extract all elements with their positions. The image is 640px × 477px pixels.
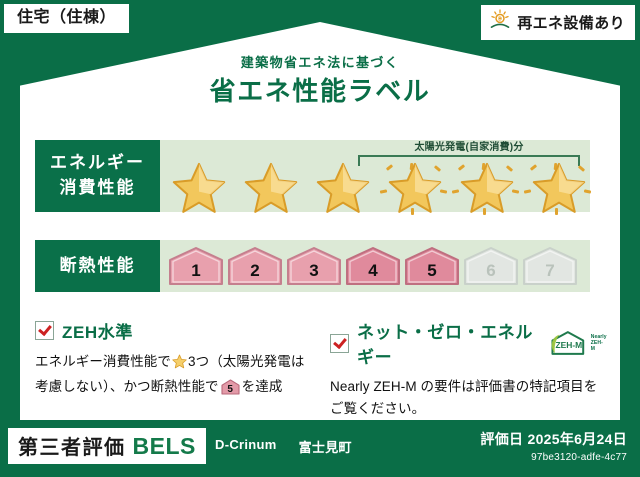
energy-performance-row-label: エネルギー 消費性能 xyxy=(35,140,160,212)
info-section: ZEH水準 エネルギー消費性能で3つ（太陽光発電は考慮しない）、かつ断熱性能で5… xyxy=(35,318,607,420)
zeh-body-star-text: 3つ（太陽光発電 xyxy=(188,354,291,369)
title-block: 建築物省エネ法に基づく 省エネ性能ラベル xyxy=(0,55,640,107)
zeh-m-sub-line2: ZEH-M xyxy=(591,340,607,353)
inline-star-icon xyxy=(172,354,187,376)
star-icon xyxy=(171,161,227,215)
insulation-level-6: 6 xyxy=(463,246,519,286)
insulation-level-5: 5 xyxy=(404,246,460,286)
svg-text:D: D xyxy=(498,17,502,23)
insulation-level-number: 7 xyxy=(522,261,578,281)
bels-certification-chip: 第三者評価 BELS xyxy=(8,428,206,464)
zeh-standard-block: ZEH水準 エネルギー消費性能で3つ（太陽光発電は考慮しない）、かつ断熱性能で5… xyxy=(35,318,312,420)
zeh-body-part3: を達成 xyxy=(242,379,283,394)
nze-checkbox-checked-icon xyxy=(330,334,349,353)
star-icon xyxy=(243,161,299,215)
insulation-level-3: 3 xyxy=(286,246,342,286)
evaluation-meta: 評価日 2025年6月24日 97be3120-adfe-4c77 xyxy=(480,429,627,463)
star-5 xyxy=(452,164,522,212)
star-3 xyxy=(308,164,378,212)
zeh-m-house-icon: ZEH-M xyxy=(548,330,588,356)
net-zero-energy-block: ネット・ゼロ・エネルギー ZEH-M Nearly ZEH-M Nearly Z… xyxy=(330,318,607,420)
inline-house-badge-icon: 5 xyxy=(221,379,240,395)
net-zero-energy-title: ネット・ゼロ・エネルギー xyxy=(357,318,538,368)
insulation-level-number: 3 xyxy=(286,261,342,281)
star-icon xyxy=(387,161,443,215)
net-zero-energy-header: ネット・ゼロ・エネルギー ZEH-M Nearly ZEH-M xyxy=(330,318,607,368)
energy-performance-row: エネルギー 消費性能 太陽光発電(自家消費)分 xyxy=(35,140,590,212)
zeh-checkbox-checked-icon xyxy=(35,321,54,340)
zeh-m-logo-subtext: Nearly ZEH-M xyxy=(591,334,607,353)
energy-performance-label: 住宅（住棟） D 再エネ設備あり 建築物省エネ法に基づく 省エネ性能ラベ xyxy=(0,0,640,477)
insulation-levels-area: 1234567 xyxy=(160,240,590,292)
building-location: 富士見町 xyxy=(299,437,352,456)
renewable-chip-label: 再エネ設備あり xyxy=(517,12,625,33)
star-icon xyxy=(315,161,371,215)
insulation-level-4: 4 xyxy=(345,246,401,286)
building-identification: D-Crinum 富士見町 xyxy=(215,437,352,456)
insulation-level-1: 1 xyxy=(168,246,224,286)
category-chip: 住宅（住棟） xyxy=(4,4,129,33)
zeh-m-sub-line1: Nearly xyxy=(591,334,607,340)
insulation-performance-row: 断熱性能 1234567 xyxy=(35,240,590,292)
insulation-level-number: 4 xyxy=(345,261,401,281)
star-icon xyxy=(531,161,587,215)
energy-label-line2: 消費性能 xyxy=(60,176,136,201)
insulation-level-7: 7 xyxy=(522,246,578,286)
insulation-level-2: 2 xyxy=(227,246,283,286)
insulation-level-number: 1 xyxy=(168,261,224,281)
bels-chip-en-label: BELS xyxy=(133,433,196,460)
solar-sun-icon: D xyxy=(489,9,511,35)
zeh-m-logo: ZEH-M Nearly ZEH-M xyxy=(548,330,607,356)
inline-house-number: 5 xyxy=(221,382,240,398)
title-subtitle: 建築物省エネ法に基づく xyxy=(0,55,640,72)
insulation-level-number: 2 xyxy=(227,261,283,281)
star-2 xyxy=(236,164,306,212)
building-name: D-Crinum xyxy=(215,437,277,456)
net-zero-energy-body: Nearly ZEH-M の要件は評価書の特記項目をご覧ください。 xyxy=(330,376,607,420)
footer-bar: 第三者評価 BELS D-Crinum 富士見町 評価日 2025年6月24日 … xyxy=(0,420,640,477)
star-1 xyxy=(164,164,234,212)
solar-bracket-label: 太陽光発電(自家消費)分 xyxy=(348,138,590,153)
insulation-performance-row-label: 断熱性能 xyxy=(35,240,160,292)
zeh-body-part1: エネルギー消費性能で xyxy=(35,354,171,369)
star-6 xyxy=(524,164,594,212)
svg-text:ZEH-M: ZEH-M xyxy=(556,340,583,350)
bels-chip-jp-label: 第三者評価 xyxy=(18,431,126,460)
insulation-level-number: 6 xyxy=(463,261,519,281)
evaluation-date: 評価日 2025年6月24日 xyxy=(480,429,627,449)
page-title: 省エネ性能ラベル xyxy=(0,76,640,107)
insulation-level-scale: 1234567 xyxy=(168,246,578,286)
zeh-standard-body: エネルギー消費性能で3つ（太陽光発電は考慮しない）、かつ断熱性能で5を達成 xyxy=(35,351,312,398)
renewable-equipment-chip: D 再エネ設備あり xyxy=(481,5,635,40)
insulation-label: 断熱性能 xyxy=(60,254,136,278)
star-4 xyxy=(380,164,450,212)
energy-label-line1: エネルギー xyxy=(50,151,145,176)
energy-stars-area: 太陽光発電(自家消費)分 xyxy=(160,140,590,212)
evaluation-id: 97be3120-adfe-4c77 xyxy=(480,452,627,463)
energy-star-rating xyxy=(164,164,594,212)
zeh-standard-title: ZEH水準 xyxy=(62,318,133,343)
category-chip-label: 住宅（住棟） xyxy=(17,9,116,26)
star-icon xyxy=(459,161,515,215)
insulation-level-number: 5 xyxy=(404,261,460,281)
zeh-standard-header: ZEH水準 xyxy=(35,318,312,343)
